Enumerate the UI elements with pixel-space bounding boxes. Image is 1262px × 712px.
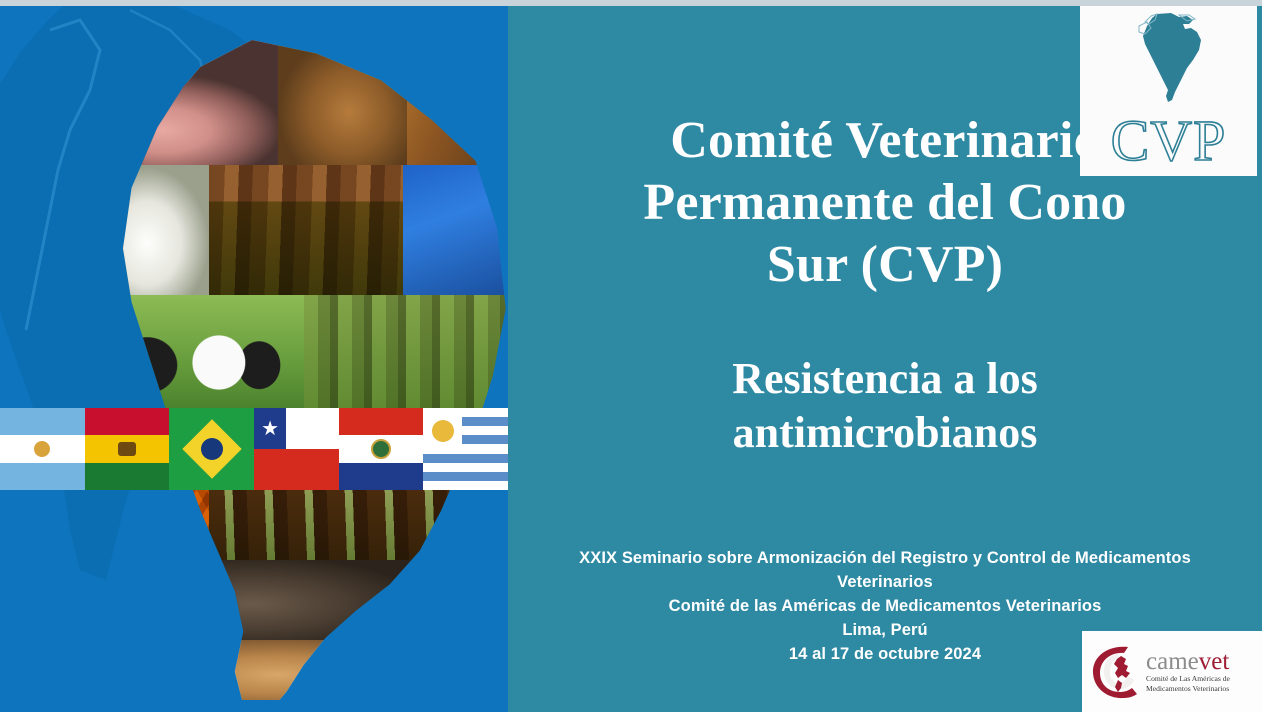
flag-argentina xyxy=(0,408,85,490)
member-country-flags: ★ xyxy=(0,408,508,490)
cvp-logo: CVP xyxy=(1080,6,1257,176)
top-edge-strip xyxy=(0,0,1262,6)
brazil-globe-icon xyxy=(201,438,223,460)
photo-jersey-cow xyxy=(80,640,508,700)
bolivia-emblem-icon xyxy=(118,442,136,456)
page-subtitle: Resistencia a los antimicrobianos xyxy=(508,352,1262,460)
flag-chile: ★ xyxy=(254,408,339,490)
cvp-south-america-icon xyxy=(1127,12,1211,104)
flag-brazil xyxy=(169,408,254,490)
camevet-text-block: camevet Comité de Las Américas de Medica… xyxy=(1144,649,1262,694)
camevet-logo: camevet Comité de Las Américas de Medica… xyxy=(1082,631,1262,712)
flag-uruguay xyxy=(423,408,508,490)
title-line-3: Sur (CVP) xyxy=(548,234,1222,296)
camevet-globe-icon xyxy=(1088,642,1144,702)
photo-horses-top xyxy=(407,40,508,165)
paraguay-emblem-icon xyxy=(371,439,391,459)
presentation-slide: ★ Comité Veterinario Permanente del Cono… xyxy=(0,0,1262,712)
collage-band-lambs xyxy=(80,700,508,712)
sun-of-may-icon xyxy=(34,441,50,457)
event-seminar-line-1: XXIX Seminario sobre Armonización del Re… xyxy=(526,546,1244,570)
collage-band-calf-horses-water xyxy=(80,165,508,295)
camevet-word-vet: vet xyxy=(1199,648,1230,675)
title-line-2: Permanente del Cono xyxy=(548,172,1222,234)
photo-horse-herd xyxy=(209,165,403,295)
camevet-word-came: came xyxy=(1146,648,1199,675)
subtitle-line-2: antimicrobianos xyxy=(578,406,1192,460)
flag-paraguay xyxy=(339,408,424,490)
camevet-tagline-line-2: Medicamentos Veterinarios xyxy=(1146,684,1262,694)
event-seminar-line-2: Veterinarios xyxy=(526,570,1244,594)
event-committee: Comité de las Américas de Medicamentos V… xyxy=(526,594,1244,618)
left-image-panel: ★ xyxy=(0,0,508,712)
cvp-wordmark: CVP xyxy=(1080,112,1257,170)
camevet-tagline-line-1: Comité de Las Américas de xyxy=(1146,674,1262,684)
camevet-wordmark: camevet xyxy=(1146,649,1262,674)
photo-lambs xyxy=(80,700,508,712)
subtitle-line-1: Resistencia a los xyxy=(578,352,1192,406)
collage-band-jersey-cow xyxy=(80,640,508,700)
photo-water xyxy=(403,165,509,295)
uruguay-sun-icon xyxy=(432,420,454,442)
flag-bolivia xyxy=(85,408,170,490)
chile-star-icon: ★ xyxy=(261,419,279,439)
